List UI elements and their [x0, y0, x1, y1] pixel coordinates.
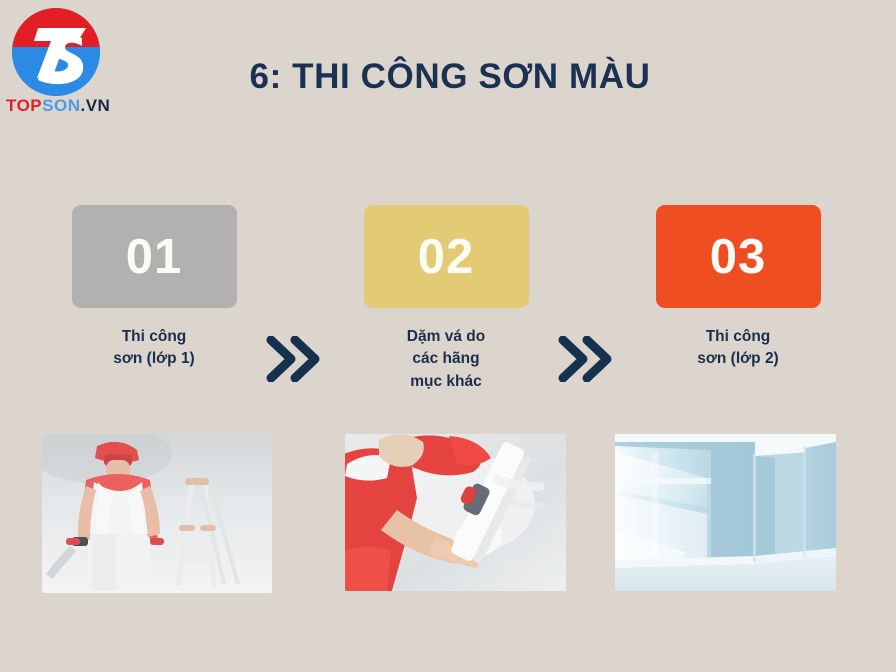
double-chevron-right-icon-1 — [265, 336, 321, 382]
logo-circle-icon — [12, 8, 100, 96]
step-caption-03: Thi công sơn (lớp 2) — [697, 326, 778, 371]
step-item-01: 01 Thi công sơn (lớp 1) — [48, 205, 260, 371]
photo-painter-with-ladder — [42, 434, 272, 593]
logo-ts-monogram-icon — [12, 8, 100, 96]
step-item-03: 03 Thi công sơn (lớp 2) — [632, 205, 844, 371]
process-steps: 01 Thi công sơn (lớp 1) 02 Dặm vá do các… — [0, 205, 896, 405]
logo-wordmark-top: TOP — [6, 96, 42, 115]
double-chevron-right-icon-2 — [557, 336, 613, 382]
step-item-02: 02 Dặm vá do các hãng mục khác — [340, 205, 552, 393]
logo-wordmark-son: SON — [42, 96, 80, 115]
step-caption-02: Dặm vá do các hãng mục khác — [407, 326, 485, 393]
step-number-badge-01: 01 — [72, 205, 237, 308]
brand-logo: TOPSON.VN — [6, 6, 122, 118]
step-photos — [0, 434, 896, 604]
page-title: 6: THI CÔNG SƠN MÀU — [150, 58, 750, 97]
photo-finished-blue-room — [615, 434, 836, 591]
step-caption-01: Thi công sơn (lớp 1) — [113, 326, 194, 371]
logo-wordmark-vn: .VN — [80, 96, 110, 115]
logo-wordmark: TOPSON.VN — [6, 96, 122, 116]
step-number-badge-03: 03 — [656, 205, 821, 308]
photo-worker-skimming-wall — [345, 434, 566, 591]
step-number-badge-02: 02 — [364, 205, 529, 308]
